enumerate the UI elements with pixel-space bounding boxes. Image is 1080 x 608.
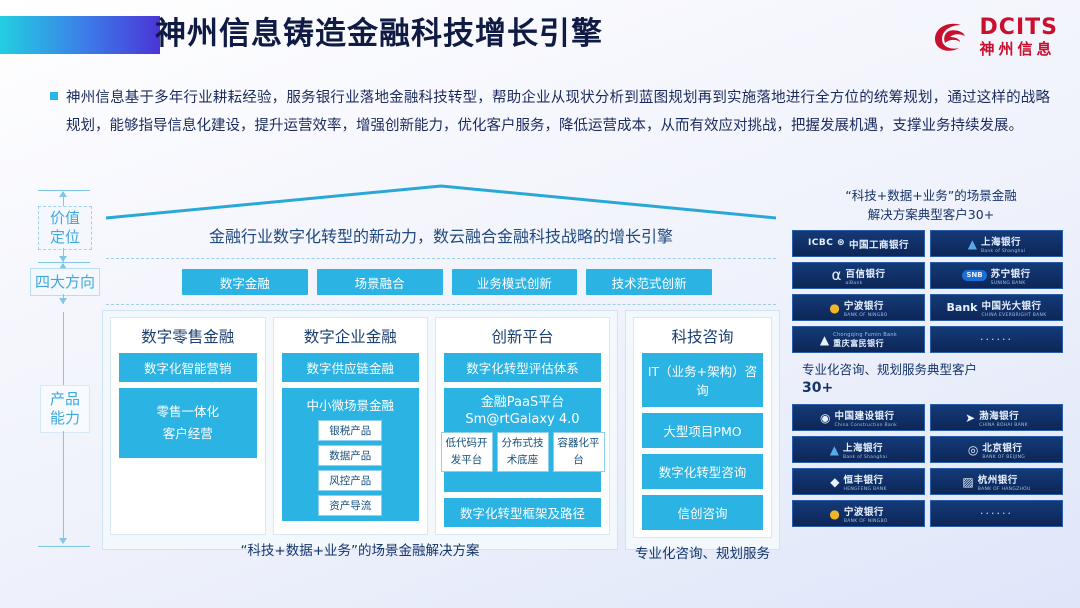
solution-group-box: 数字零售金融 数字化智能营销 零售一体化 客户经营 数字企业金融 数字供应链金融 <box>102 310 618 550</box>
direction-chip[interactable]: 数字金融 <box>182 269 308 295</box>
bank-logo-suning: SNB 苏宁银行 SUNING BANK <box>930 262 1063 289</box>
roof-chevron-icon <box>106 182 776 220</box>
capability-card[interactable]: 大型项目PMO <box>642 413 763 448</box>
bank-logo-hengfeng: ◆ 恒丰银行 HENGFENG BANK <box>792 468 925 495</box>
intro-paragraph: 神州信息基于多年行业耕耘经验，服务银行业落地金融科技转型，帮助企业从现状分析到蓝… <box>40 84 1050 140</box>
rail-tick-6 <box>63 431 64 541</box>
page-header: 神州信息铸造金融科技增长引擎 DCITS 神州信息 <box>0 0 1080 72</box>
bullet-icon <box>50 92 58 100</box>
divider-dashed-1 <box>106 258 776 259</box>
bank-logo-everbright: Bank 中国光大银行 CHINA EVERBRIGHT BANK <box>930 294 1063 321</box>
direction-chip[interactable]: 场景融合 <box>317 269 443 295</box>
capability-groups: 数字零售金融 数字化智能营销 零售一体化 客户经营 数字企业金融 数字供应链金融 <box>102 310 780 550</box>
dcits-logo: DCITS 神州信息 <box>929 14 1058 60</box>
rail-label-capability: 产品 能力 <box>40 385 90 433</box>
logo-en-text: DCITS <box>980 17 1058 39</box>
group-title: 数字零售金融 <box>119 325 257 347</box>
bank-logo-bank-of-shanghai-2: ▲ 上海银行 Bank of Shanghai <box>792 436 925 463</box>
mini-chip[interactable]: 资产导流 <box>318 495 382 516</box>
customer-logo-grid-2: ◉ 中国建设银行 China Construction Bank ➤ 渤海银行 … <box>792 404 1070 527</box>
value-banner: 金融行业数字化转型的新动力，数云融合金融科技战略的增长引擎 <box>106 216 776 254</box>
group-title: 科技咨询 <box>642 325 763 347</box>
solution-footer: “科技+数据+业务”的场景金融解决方案 <box>110 535 610 559</box>
mini-chip[interactable]: 数据产品 <box>318 445 382 466</box>
bank-logo-more-2: ······ <box>930 500 1063 527</box>
intro-text: 神州信息基于多年行业耕耘经验，服务银行业落地金融科技转型，帮助企业从现状分析到蓝… <box>66 84 1050 140</box>
customer-heading-1: “科技+数据+业务”的场景金融 解决方案典型客户30+ <box>792 182 1070 230</box>
rail-arrow-down-2 <box>59 298 67 304</box>
group-innovation-platform: 创新平台 数字化转型评估体系 金融PaaS平台 Sm@rtGalaxy 4.0 … <box>435 317 610 535</box>
group-title: 创新平台 <box>444 325 601 347</box>
capability-card[interactable]: 数字化转型咨询 <box>642 454 763 489</box>
mini-chip-grid: 银税产品 数据产品 风控产品 资产导流 <box>282 420 420 516</box>
capability-card[interactable]: IT（业务+架构）咨询 <box>642 353 763 407</box>
direction-chip[interactable]: 业务模式创新 <box>452 269 578 295</box>
bank-logo-icbc: ICBC ⊛ 中国工商银行 <box>792 230 925 257</box>
customer-heading-2: 专业化咨询、规划服务典型客户 30+ <box>792 353 1070 404</box>
capability-card-sme[interactable]: 中小微场景金融 银税产品 数据产品 风控产品 资产导流 <box>282 388 420 521</box>
dcits-swoosh-icon <box>929 17 973 57</box>
mini-chip[interactable]: 银税产品 <box>318 420 382 441</box>
mini-chip[interactable]: 风控产品 <box>318 470 382 491</box>
capability-card[interactable]: 数字化智能营销 <box>119 353 257 382</box>
capability-card[interactable]: 数字化转型框架及路径 <box>444 498 601 527</box>
mini-chip[interactable]: 分布式技术底座 <box>497 432 549 472</box>
capability-card-paas[interactable]: 金融PaaS平台 Sm@rtGalaxy 4.0 低代码开发平台 分布式技术底座… <box>444 388 601 492</box>
capability-card[interactable]: 信创咨询 <box>642 495 763 530</box>
rail-label-value: 价值 定位 <box>38 206 92 250</box>
rail-label-directions: 四大方向 <box>30 268 100 296</box>
bank-logo-ningbo: ● 宁波银行 BANK OF NINGBO <box>792 294 925 321</box>
capability-card[interactable]: 数字供应链金融 <box>282 353 420 382</box>
group-digital-enterprise-finance: 数字企业金融 数字供应链金融 中小微场景金融 银税产品 数据产品 风控产品 资产… <box>273 317 429 535</box>
bank-logo-bank-of-shanghai: ▲ 上海银行 Bank of Shanghai <box>930 230 1063 257</box>
bank-logo-more-1: ······ <box>930 326 1063 353</box>
mini-chip[interactable]: 容器化平台 <box>553 432 605 472</box>
title-accent-bar <box>0 16 160 54</box>
bank-logo-bohai: ➤ 渤海银行 CHINA BOHAI BANK <box>930 404 1063 431</box>
consulting-footer: 专业化咨询、规划服务 <box>633 538 772 562</box>
group-title: 数字企业金融 <box>282 325 420 347</box>
customer-logo-grid-1: ICBC ⊛ 中国工商银行 ▲ 上海银行 Bank of Shanghai α … <box>792 230 1070 353</box>
consulting-group-box: 科技咨询 IT（业务+架构）咨询 大型项目PMO 数字化转型咨询 信创咨询 专业… <box>625 310 780 550</box>
mini-chip-grid: 低代码开发平台 分布式技术底座 容器化平台 <box>438 432 608 472</box>
rail-arrow-down-3 <box>59 538 67 544</box>
bank-logo-chongqing-fumin: ▲ Chongqing Fumin Bank 重庆富民银行 <box>792 326 925 353</box>
logo-text: DCITS 神州信息 <box>980 17 1058 57</box>
capability-card[interactable]: 数字化转型评估体系 <box>444 353 601 382</box>
mini-chip[interactable]: 低代码开发平台 <box>441 432 493 472</box>
bank-logo-ccb: ◉ 中国建设银行 China Construction Bank <box>792 404 925 431</box>
customer-panel: “科技+数据+业务”的场景金融 解决方案典型客户30+ ICBC ⊛ 中国工商银… <box>792 182 1070 557</box>
logo-cn-text: 神州信息 <box>980 42 1058 57</box>
rail-tick-5 <box>63 312 64 388</box>
capability-card[interactable]: 零售一体化 客户经营 <box>119 388 257 458</box>
page-title: 神州信息铸造金融科技增长引擎 <box>155 12 603 56</box>
capability-panel: 金融行业数字化转型的新动力，数云融合金融科技战略的增长引擎 数字金融 场景融合 … <box>96 182 786 557</box>
direction-chip[interactable]: 技术范式创新 <box>586 269 712 295</box>
bank-logo-hangzhou: ▨ 杭州银行 BANK OF HANGZHOU <box>930 468 1063 495</box>
bank-logo-aibank: α 百信银行 aiBank <box>792 262 925 289</box>
rail-arrow-up-1 <box>59 191 67 197</box>
direction-chip-row: 数字金融 场景融合 业务模式创新 技术范式创新 <box>182 269 712 295</box>
group-digital-retail-finance: 数字零售金融 数字化智能营销 零售一体化 客户经营 <box>110 317 266 535</box>
bank-logo-beijing: ◎ 北京银行 BANK OF BEIJING <box>930 436 1063 463</box>
rail-divider-3 <box>38 546 90 547</box>
bank-logo-ningbo-2: ● 宁波银行 BANK OF NINGBO <box>792 500 925 527</box>
group-tech-consulting: 科技咨询 IT（业务+架构）咨询 大型项目PMO 数字化转型咨询 信创咨询 <box>633 317 772 538</box>
divider-dashed-2 <box>106 304 776 305</box>
